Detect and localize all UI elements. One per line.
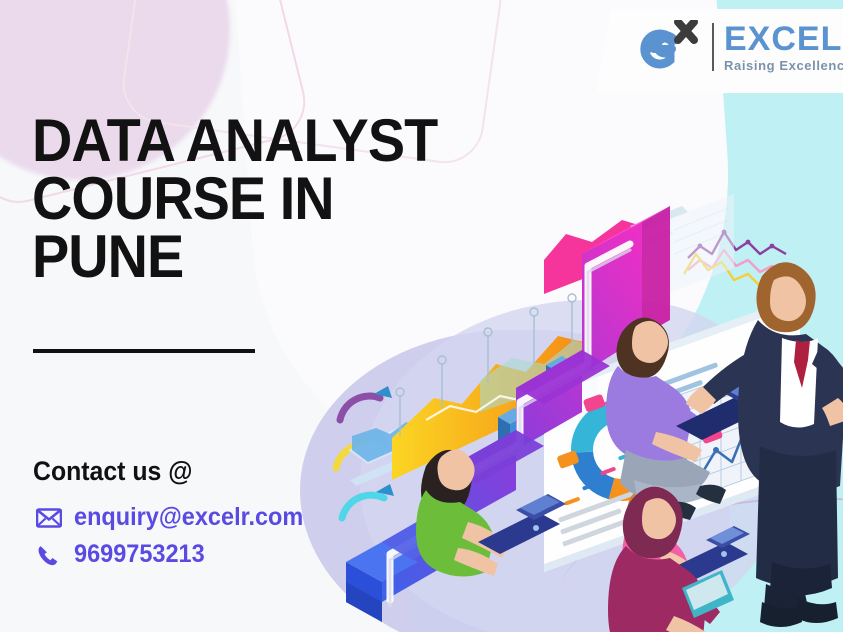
poster-canvas: EXCELR Raising Excellence DATA ANALYST C… [0,0,843,632]
contact-email-row[interactable]: enquiry@excelr.com [36,503,318,532]
contact-phone[interactable]: 9699753213 [74,540,205,569]
brand-logo[interactable]: EXCELR Raising Excellence [640,20,843,74]
phone-icon [36,544,62,566]
ex-monogram-icon [640,20,702,74]
title-divider [33,349,255,353]
contact-phone-row[interactable]: 9699753213 [36,540,213,569]
brand-tagline: Raising Excellence [724,59,843,72]
contact-heading: Contact us @ [33,456,192,487]
logo-wordmark: EXCELR Raising Excellence [724,22,843,72]
contact-email[interactable]: enquiry@excelr.com [74,503,303,532]
brand-name: EXCELR [724,22,843,56]
envelope-icon [36,507,62,529]
logo-divider [712,23,714,71]
page-title: DATA ANALYST COURSE IN PUNE [32,112,469,287]
